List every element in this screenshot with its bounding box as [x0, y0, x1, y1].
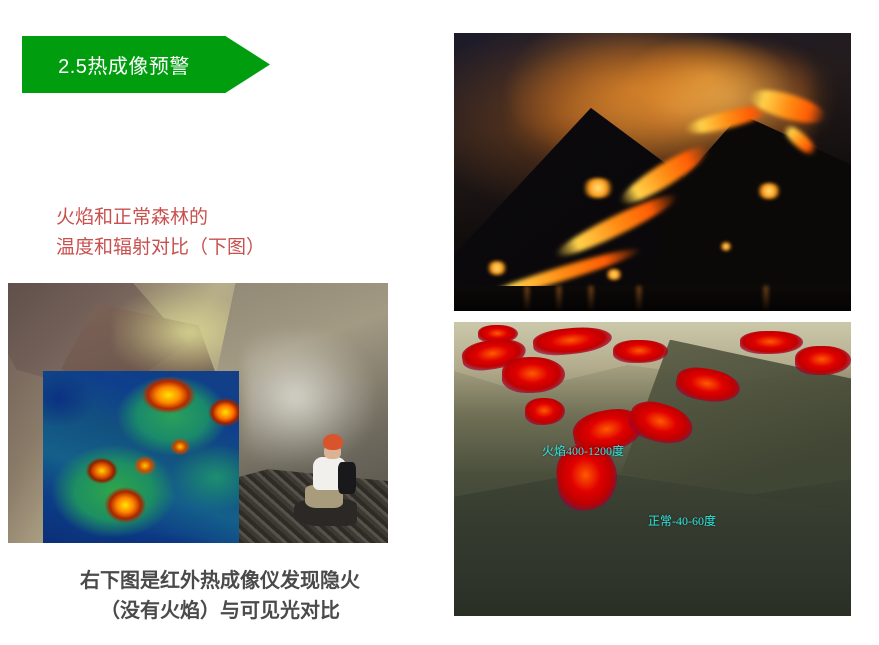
person-cap	[323, 434, 344, 450]
figure-caption: 右下图是红外热成像仪发现隐火 （没有火焰）与可见光对比	[20, 566, 420, 626]
water-reflection-5	[764, 286, 768, 311]
hotspot-7	[795, 346, 851, 375]
hotspot-10	[525, 398, 565, 424]
normal-temperature-label: 正常-40-60度	[648, 512, 716, 529]
flame-temperature-label: 火焰400-1200度	[542, 442, 624, 459]
water-reflection-1	[525, 286, 529, 311]
night-forest-fire-photo	[454, 33, 851, 311]
section-banner: 2.5热成像预警	[22, 36, 270, 93]
water-reflection-4	[637, 286, 641, 311]
person-backpack	[338, 462, 356, 494]
hotspot-2	[502, 357, 566, 392]
flame-blob-2	[756, 183, 782, 199]
water-reflection-3	[589, 286, 593, 311]
flame-blob-3	[720, 242, 732, 251]
volcano-crater-photo	[8, 283, 388, 543]
flame-blob-4	[486, 261, 508, 275]
red-note-line-1: 火焰和正常森林的	[56, 203, 265, 233]
seated-person	[297, 434, 365, 522]
water-band	[454, 286, 851, 311]
caption-line-2: （没有火焰）与可见光对比	[20, 596, 420, 626]
water-reflection-2	[557, 286, 561, 311]
flame-blob-1	[581, 178, 615, 198]
red-note-line-2: 温度和辐射对比（下图）	[56, 233, 265, 263]
caption-line-1: 右下图是红外热成像仪发现隐火	[20, 566, 420, 596]
thermal-false-color-inset	[43, 371, 239, 543]
aerial-thermal-overlay: 火焰400-1200度 正常-40-60度	[454, 322, 851, 616]
banner-title: 2.5热成像预警	[22, 36, 226, 93]
red-note: 火焰和正常森林的 温度和辐射对比（下图）	[56, 203, 265, 263]
